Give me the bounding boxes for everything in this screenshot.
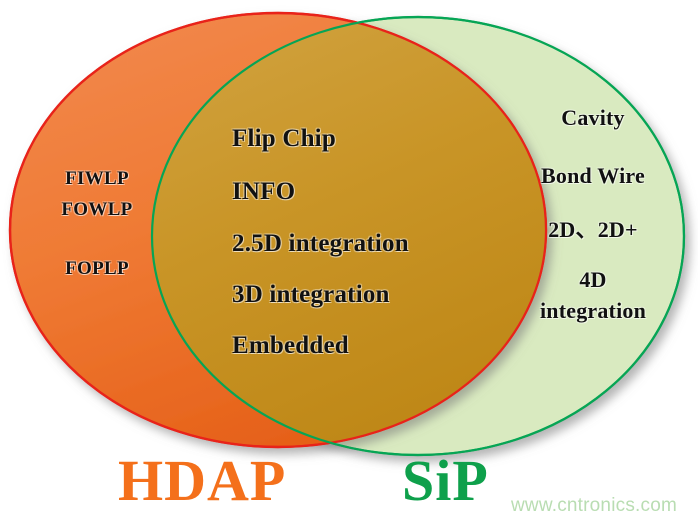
hdap-exclusive-item: FOPLP [22, 258, 172, 280]
sip-set-label: SiP [402, 452, 489, 510]
hdap-set-label: HDAP [118, 452, 286, 510]
intersection-item: Flip Chip [232, 125, 502, 153]
sip-exclusive-item: integration [498, 298, 688, 324]
venn-diagram: FIWLP FOWLP FOPLP Flip Chip INFO 2.5D in… [0, 0, 698, 528]
sip-exclusive-item: 4D [498, 267, 688, 293]
intersection-item: 2.5D integration [232, 230, 502, 258]
sip-exclusive-item: 2D、2D+ [498, 212, 688, 244]
hdap-exclusive-item: FOWLP [22, 199, 172, 221]
intersection-item: INFO [232, 178, 502, 206]
hdap-exclusive-item: FIWLP [22, 168, 172, 190]
watermark-text: www.cntronics.com [511, 495, 677, 517]
intersection-item: Embedded [232, 332, 502, 360]
sip-exclusive-item: Bond Wire [498, 163, 688, 189]
sip-exclusive-item: Cavity [498, 105, 688, 131]
intersection-item: 3D integration [232, 281, 502, 309]
